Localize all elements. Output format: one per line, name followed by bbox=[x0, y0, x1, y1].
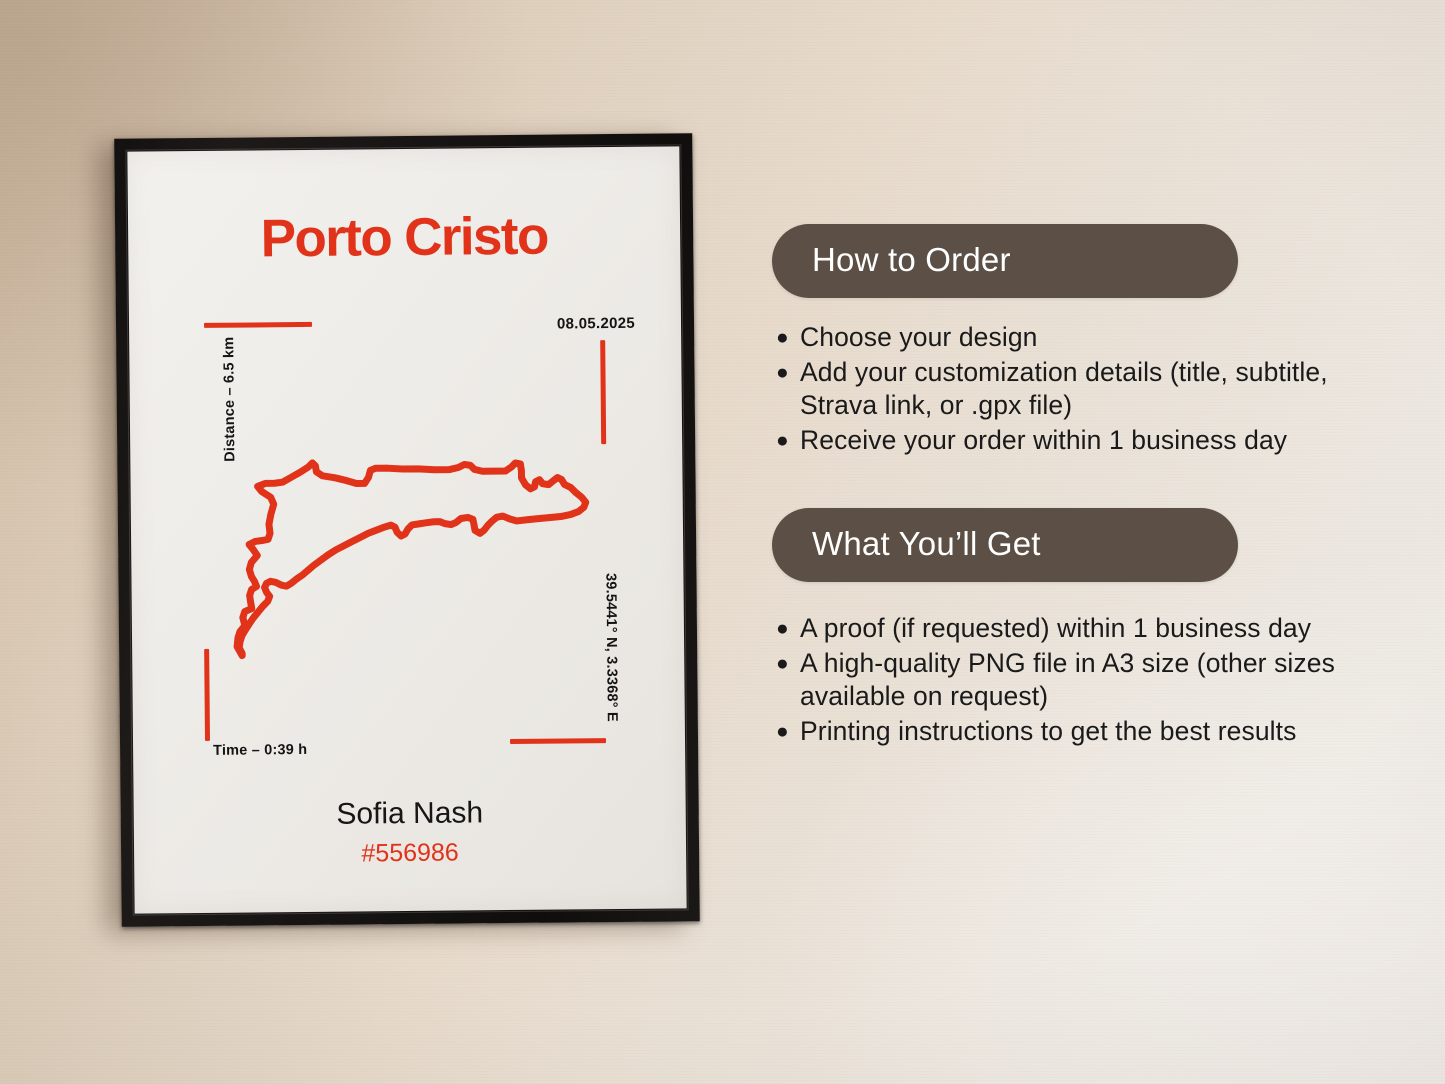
list-item: ●Receive your order within 1 business da… bbox=[800, 424, 1372, 458]
route-map bbox=[212, 442, 619, 681]
list-item-text: Printing instructions to get the best re… bbox=[800, 716, 1296, 746]
bullet-icon: ● bbox=[776, 321, 789, 355]
list-item: ●Printing instructions to get the best r… bbox=[800, 715, 1372, 749]
list-item-text: Choose your design bbox=[800, 322, 1038, 352]
bullet-icon: ● bbox=[776, 424, 789, 458]
info-panel: How to Order ●Choose your design ●Add yo… bbox=[772, 224, 1372, 749]
distance-label: Distance – 6.5 km bbox=[221, 337, 238, 462]
page-title: Porto Cristo bbox=[128, 204, 681, 270]
section-heading-what-youll-get: What You’ll Get bbox=[772, 508, 1238, 582]
list-item-text: Receive your order within 1 business day bbox=[800, 425, 1287, 455]
list-item: ●Add your customization details (title, … bbox=[800, 356, 1372, 423]
what-youll-get-list: ●A proof (if requested) within 1 busines… bbox=[772, 612, 1372, 748]
picture-frame: Porto Cristo Distance – 6.5 km 39.5441° … bbox=[114, 133, 700, 927]
bullet-icon: ● bbox=[776, 647, 789, 681]
athlete-name: Sofia Nash bbox=[134, 794, 686, 833]
list-item: ●A high-quality PNG file in A3 size (oth… bbox=[800, 647, 1372, 714]
accent-line-top-right bbox=[600, 340, 606, 444]
list-item-text: A proof (if requested) within 1 business… bbox=[800, 613, 1311, 643]
accent-line-bottom-left bbox=[204, 649, 210, 741]
section-what-youll-get: What You’ll Get ●A proof (if requested) … bbox=[772, 508, 1372, 748]
poster-artwork: Porto Cristo Distance – 6.5 km 39.5441° … bbox=[127, 146, 686, 913]
bullet-icon: ● bbox=[776, 356, 789, 390]
bullet-icon: ● bbox=[776, 715, 789, 749]
how-to-order-list: ●Choose your design ●Add your customizat… bbox=[772, 321, 1372, 457]
list-item-text: A high-quality PNG file in A3 size (othe… bbox=[800, 648, 1335, 712]
accent-line-bottom-right bbox=[510, 738, 606, 744]
framed-poster: Porto Cristo Distance – 6.5 km 39.5441° … bbox=[114, 133, 700, 927]
section-how-to-order: How to Order ●Choose your design ●Add yo… bbox=[772, 224, 1372, 457]
date-label: 08.05.2025 bbox=[557, 315, 635, 333]
bullet-icon: ● bbox=[776, 612, 789, 646]
list-item-text: Add your customization details (title, s… bbox=[800, 357, 1328, 421]
list-item: ●Choose your design bbox=[800, 321, 1372, 355]
poster-id: #556986 bbox=[134, 836, 686, 870]
route-path bbox=[235, 460, 587, 655]
time-label: Time – 0:39 h bbox=[213, 742, 307, 759]
list-item: ●A proof (if requested) within 1 busines… bbox=[800, 612, 1372, 646]
accent-line-top-left bbox=[204, 322, 312, 328]
section-heading-how-to-order: How to Order bbox=[772, 224, 1238, 298]
